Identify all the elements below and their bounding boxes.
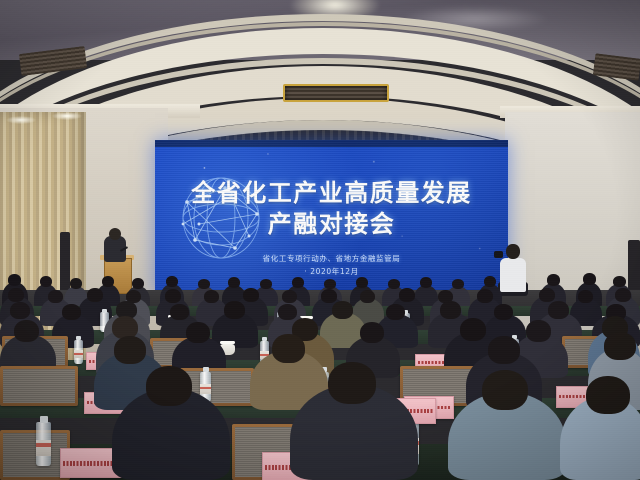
title-line-1: 全省化工产业高质量发展 [191,179,472,207]
photographer-head [506,244,520,259]
title-line-2: 产融对接会 [155,209,508,240]
camera-icon [494,251,503,258]
podium-speaker-head [109,228,121,240]
bottle-cap [40,416,48,423]
screen-top-bezel [155,140,508,147]
left-downlight-2 [52,112,82,120]
bottle-cap [102,309,107,313]
presentation-date: · 2020年12月 [155,266,508,277]
bottle-cap [203,367,209,372]
center-gold-vent [283,84,389,102]
bottle-label [36,440,51,456]
left-downlight [6,116,36,124]
presentation-title: 全省化工产业高质量发展 产融对接会 [155,178,508,239]
tea-cup-lid [220,341,235,344]
bottle-cap [76,336,81,340]
bottle-cap [262,337,267,341]
led-presentation-screen: 全省化工产业高质量发展 产融对接会 省化工专项行动办、省地方金融监管局 · 20… [155,140,508,295]
bottle-label [74,350,83,358]
conference-chair[interactable] [0,366,78,406]
presentation-subtitle: 省化工专项行动办、省地方金融监管局 [155,253,508,264]
photographer-body [500,258,526,292]
conference-hall-photo: 全省化工产业高质量发展 产融对接会 省化工专项行动办、省地方金融监管局 · 20… [0,0,640,480]
bottle-label [200,384,211,394]
pa-speaker-tower-left [60,232,70,294]
